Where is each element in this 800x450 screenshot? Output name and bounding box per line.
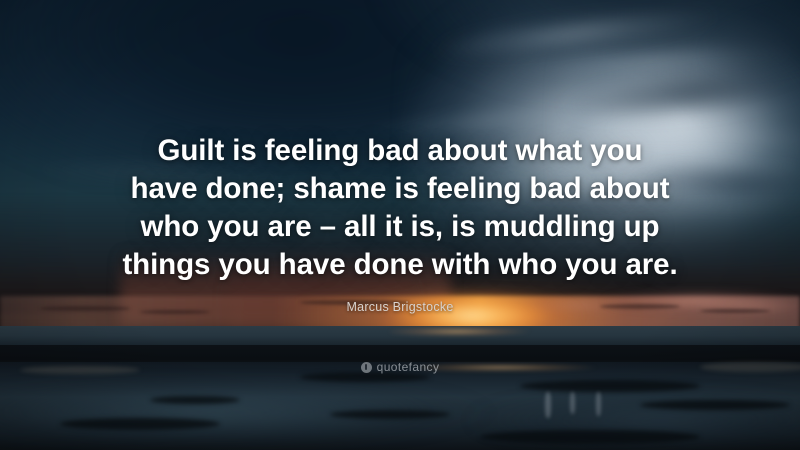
quote-image-canvas: Guilt is feeling bad about what you have…: [0, 0, 800, 450]
water-light-reflection: [570, 392, 575, 414]
quote-block: Guilt is feeling bad about what you have…: [0, 132, 800, 284]
sea-sun-reflection: [390, 327, 540, 336]
foreground-debris: [150, 396, 240, 404]
quote-line: who you are – all it is, is muddling up: [120, 208, 680, 246]
watermark: quotefancy: [0, 360, 800, 374]
water-light-reflection: [545, 392, 551, 418]
quote-line: Guilt is feeling bad about what you: [120, 132, 680, 170]
quotefancy-circle-logo-icon: [361, 362, 372, 373]
foreground-debris: [60, 418, 220, 430]
foreground-debris: [520, 380, 700, 392]
watermark-brand-label: quotefancy: [377, 360, 440, 374]
author-name: Marcus Brigstocke: [346, 300, 453, 314]
foreground-debris: [330, 410, 450, 419]
quote-line: have done; shame is feeling bad about: [120, 170, 680, 208]
quote-line: things you have done with who you are.: [120, 246, 680, 284]
water-light-reflection: [596, 392, 601, 416]
author-attribution: Marcus Brigstocke: [0, 298, 800, 316]
foreground-debris: [640, 400, 790, 410]
foreground-debris: [480, 430, 700, 444]
